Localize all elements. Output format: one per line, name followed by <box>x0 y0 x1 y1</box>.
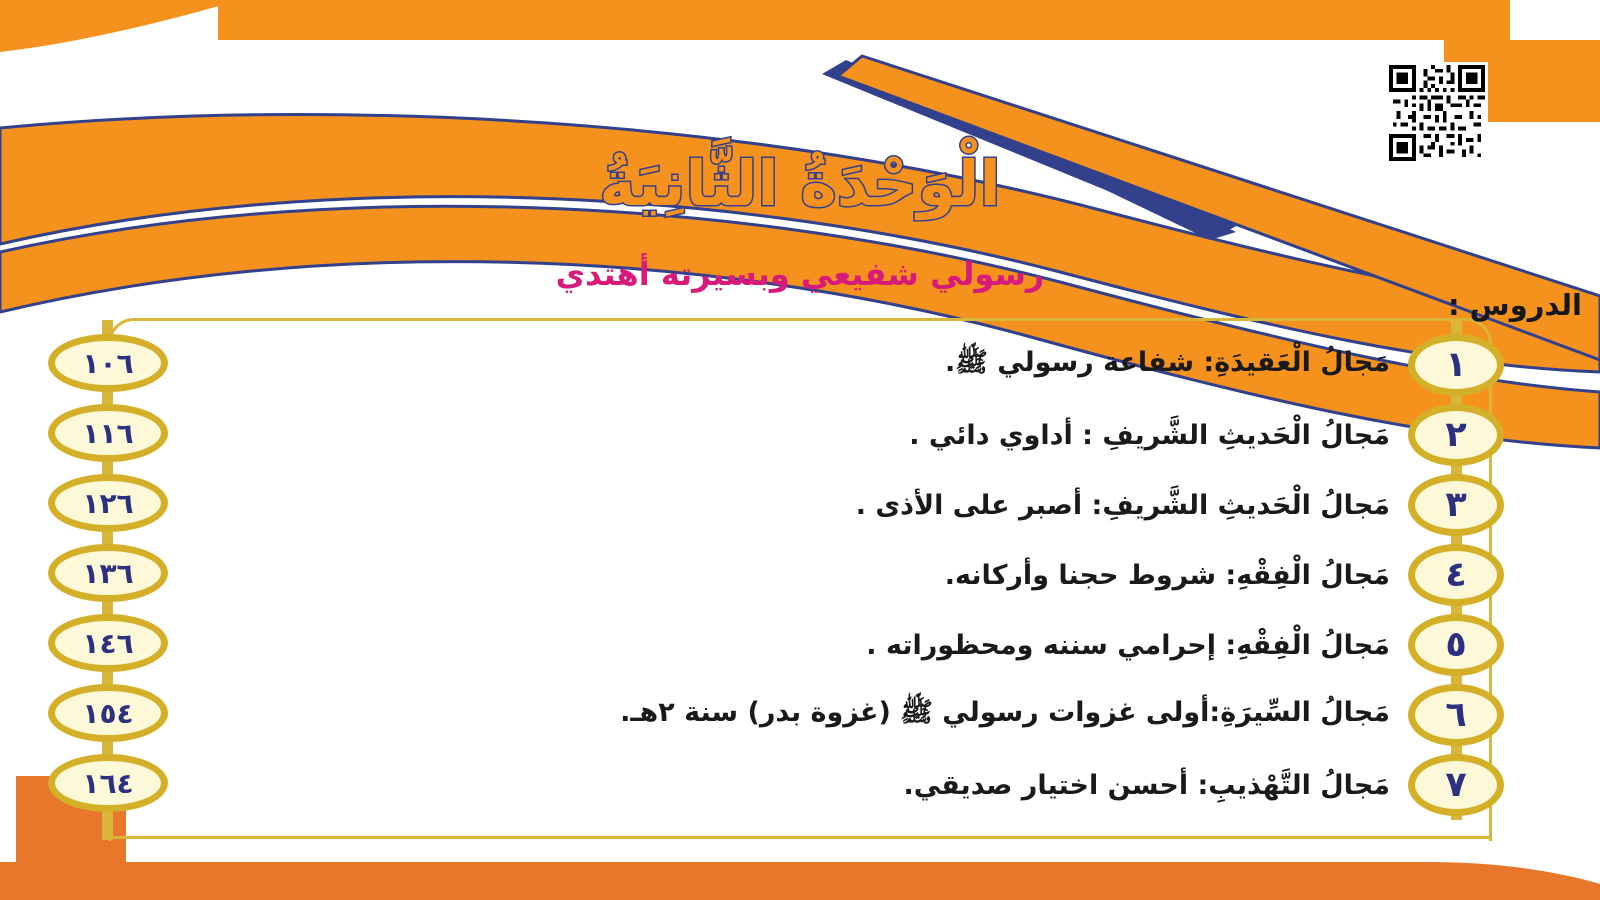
list-item[interactable]: ١ مَجالُ الْعَقيدَةِ: شفاعة رسولي ﷺ. ١٠٦ <box>0 330 1600 400</box>
lesson-page-badge[interactable]: ١١٦ <box>48 404 168 462</box>
lessons-list: ١ مَجالُ الْعَقيدَةِ: شفاعة رسولي ﷺ. ١٠٦… <box>0 330 1600 820</box>
list-item[interactable]: ٣ مَجالُ الْحَديثِ الشَّريفِ: أصبر على ا… <box>0 470 1600 540</box>
upper-left-wedge <box>0 0 240 52</box>
list-item[interactable]: ٢ مَجالُ الْحَديثِ الشَّريفِ : أداوي دائ… <box>0 400 1600 470</box>
list-item[interactable]: ٥ مَجالُ الْفِقْهِ: إحرامي سننه ومحظورات… <box>0 610 1600 680</box>
lesson-number-badge[interactable]: ٣ <box>1408 474 1504 536</box>
list-item[interactable]: ٧ مَجالُ التَّهْذيبِ: أحسن اختيار صديقي.… <box>0 750 1600 820</box>
lessons-label: الدروس : <box>1448 288 1582 322</box>
bottom-orange-bar <box>0 862 1600 900</box>
page-subtitle: رسولي شفيعي وبسيرته أهتدي <box>0 255 1600 293</box>
lesson-title: مَجالُ الْفِقْهِ: شروط حجنا وأركانه. <box>190 540 1390 610</box>
lesson-number-badge[interactable]: ٧ <box>1408 754 1504 816</box>
lesson-title: مَجالُ السِّيرَةِ:أولى غزوات رسولي ﷺ (غز… <box>190 680 1390 750</box>
lesson-title: مَجالُ الْحَديثِ الشَّريفِ: أصبر على الأ… <box>190 470 1390 540</box>
lesson-number-badge[interactable]: ١ <box>1408 334 1504 396</box>
lesson-page-badge[interactable]: ١٦٤ <box>48 754 168 812</box>
list-item[interactable]: ٦ مَجالُ السِّيرَةِ:أولى غزوات رسولي ﷺ (… <box>0 680 1600 750</box>
lesson-title: مَجالُ التَّهْذيبِ: أحسن اختيار صديقي. <box>190 750 1390 820</box>
lesson-title: مَجالُ الْعَقيدَةِ: شفاعة رسولي ﷺ. <box>190 330 1390 400</box>
page-title: الْوَحْدَةُ الثَّانِيَةُ <box>0 150 1600 218</box>
lesson-page-badge[interactable]: ١٥٤ <box>48 684 168 742</box>
lessons-frame-bottom <box>108 836 1492 839</box>
lesson-page-badge[interactable]: ١٣٦ <box>48 544 168 602</box>
unit-cover-page: الْوَحْدَةُ الثَّانِيَةُ رسولي شفيعي وبس… <box>0 0 1600 900</box>
qr-code[interactable] <box>1386 62 1488 164</box>
list-item[interactable]: ٤ مَجالُ الْفِقْهِ: شروط حجنا وأركانه. ١… <box>0 540 1600 610</box>
lesson-title: مَجالُ الْفِقْهِ: إحرامي سننه ومحظوراته … <box>190 610 1390 680</box>
top-orange-band <box>218 0 1510 40</box>
lesson-number-badge[interactable]: ٤ <box>1408 544 1504 606</box>
lesson-page-badge[interactable]: ١٠٦ <box>48 334 168 392</box>
lesson-page-badge[interactable]: ١٢٦ <box>48 474 168 532</box>
lesson-number-badge[interactable]: ٦ <box>1408 684 1504 746</box>
lesson-title: مَجالُ الْحَديثِ الشَّريفِ : أداوي دائي … <box>190 400 1390 470</box>
lesson-number-badge[interactable]: ٥ <box>1408 614 1504 676</box>
lesson-number-badge[interactable]: ٢ <box>1408 404 1504 466</box>
lesson-page-badge[interactable]: ١٤٦ <box>48 614 168 672</box>
